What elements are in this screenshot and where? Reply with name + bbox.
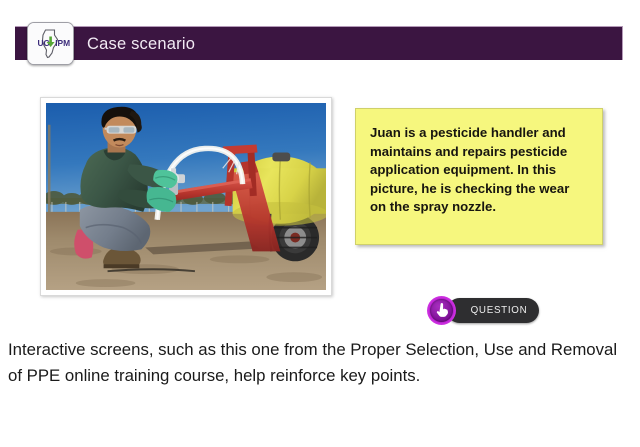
callout-box: Juan is a pesticide handler and maintain…	[355, 108, 603, 245]
svg-text:UC: UC	[38, 38, 50, 48]
uc-ipm-logo: UC IPM	[27, 22, 74, 65]
caption-text: Interactive screens, such as this one fr…	[8, 337, 632, 388]
callout-text: Juan is a pesticide handler and maintain…	[370, 124, 588, 217]
question-button[interactable]: QUESTION	[427, 296, 539, 325]
svg-text:IPM: IPM	[55, 38, 70, 48]
page-title: Case scenario	[87, 30, 195, 58]
slide-canvas: UC IPM Case scenario	[0, 0, 640, 447]
caption: Interactive screens, such as this one fr…	[8, 337, 632, 388]
pesticide-handler-photo-image	[46, 103, 326, 290]
question-button-label[interactable]: QUESTION	[447, 298, 539, 323]
photo-frame	[40, 97, 332, 296]
pesticide-handler-photo	[46, 103, 326, 290]
uc-ipm-logo-icon: UC IPM	[28, 23, 73, 64]
question-button-badge[interactable]	[427, 296, 456, 325]
pointing-hand-cursor-icon	[435, 303, 449, 319]
